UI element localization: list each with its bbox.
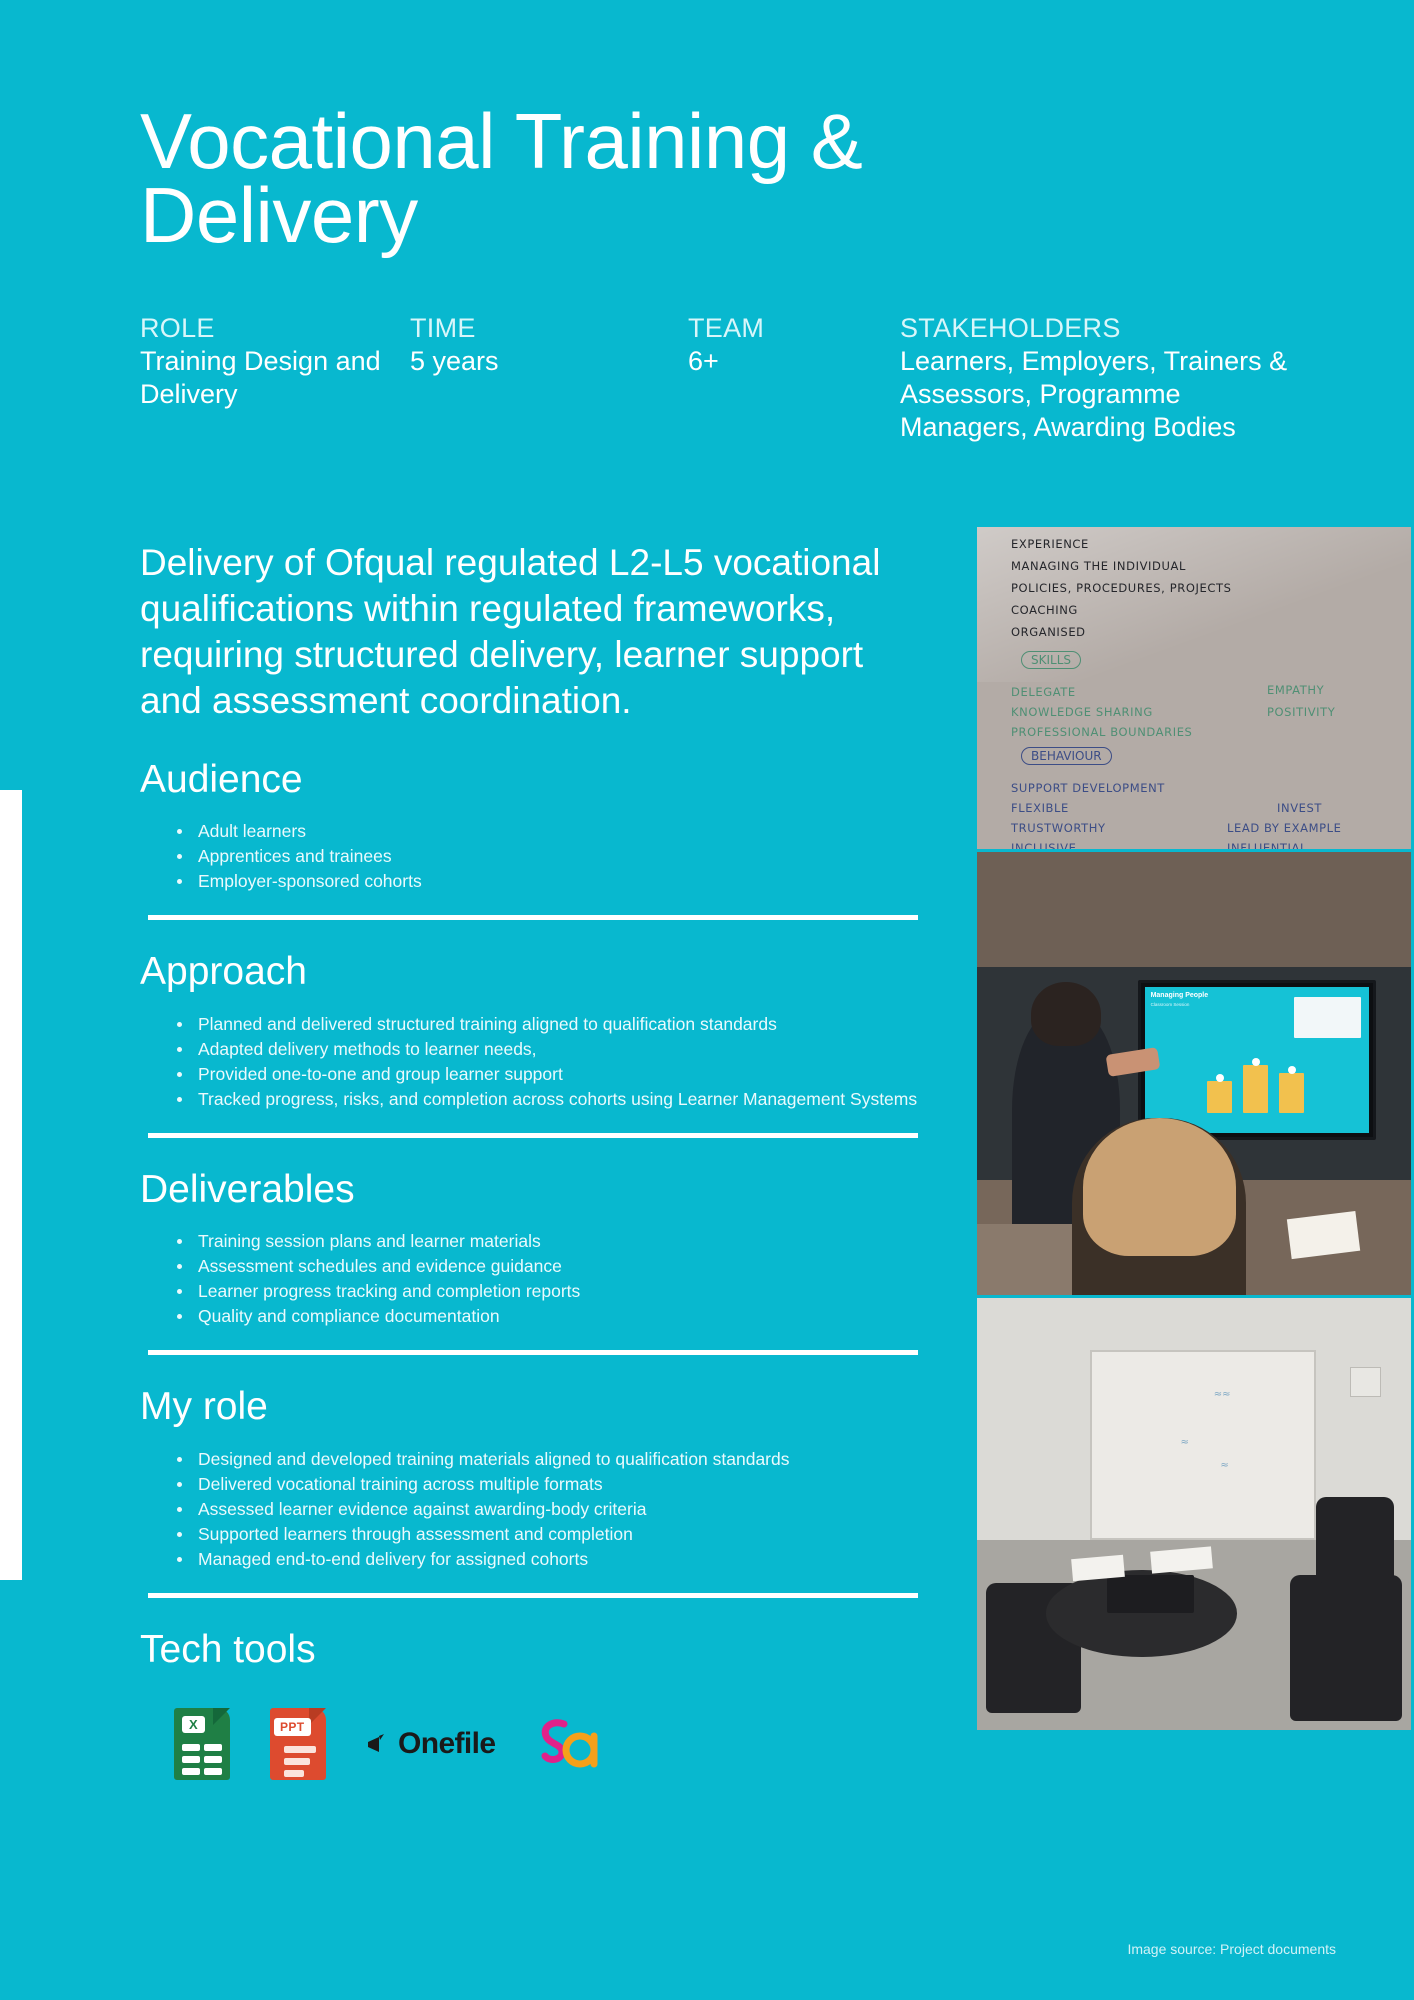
whiteboard-note: SUPPORT DEVELOPMENT	[1011, 781, 1165, 795]
list-item: Tracked progress, risks, and completion …	[174, 1088, 950, 1111]
meta-value-stakeholders: Learners, Employers, Trainers & Assessor…	[900, 345, 1302, 444]
whiteboard-scribble: ≈	[1220, 1460, 1228, 1471]
deliverables-list: Training session plans and learner mater…	[174, 1230, 950, 1328]
slide-card	[1294, 997, 1361, 1038]
training-room-photo: ≈≈ ≈ ≈	[977, 1298, 1411, 1730]
onefile-logo: Onefile	[366, 1727, 496, 1761]
slide-figure	[1279, 1073, 1304, 1112]
section-my-role: My role Designed and developed training …	[140, 1385, 950, 1570]
list-item: Planned and delivered structured trainin…	[174, 1013, 950, 1036]
whiteboard-note: FLEXIBLE	[1011, 801, 1069, 815]
whiteboard-note: EMPATHY	[1267, 683, 1324, 697]
excel-cell	[182, 1744, 200, 1751]
whiteboard-heading-behaviour: BEHAVIOUR	[1021, 747, 1112, 765]
list-item: Designed and developed training material…	[174, 1448, 950, 1471]
list-item: Provided one-to-one and group learner su…	[174, 1063, 950, 1086]
meta-value-time: 5 years	[410, 345, 670, 378]
onefile-mark-icon	[366, 1731, 392, 1757]
image-source-caption: Image source: Project documents	[1127, 1941, 1336, 1957]
list-item: Assessment schedules and evidence guidan…	[174, 1255, 950, 1278]
excel-cell	[182, 1768, 200, 1775]
whiteboard-note: TRUSTWORTHY	[1011, 821, 1106, 835]
whiteboard-note: COACHING	[1011, 603, 1078, 617]
meta-value-team: 6+	[688, 345, 882, 378]
whiteboard-heading-skills: SKILLS	[1021, 651, 1081, 669]
room-whiteboard: ≈≈ ≈ ≈	[1090, 1350, 1316, 1540]
powerpoint-logo: PPT	[270, 1708, 326, 1780]
list-item: Quality and compliance documentation	[174, 1305, 950, 1328]
classroom-session-photo: Managing People Classroom Session	[977, 852, 1411, 1295]
excel-cell	[204, 1756, 222, 1763]
whiteboard-note: ORGANISED	[1011, 625, 1086, 639]
section-divider	[148, 1350, 918, 1355]
section-divider	[148, 915, 918, 920]
whiteboard-note: INVEST	[1277, 801, 1322, 815]
meta-item-time: TIME 5 years	[410, 312, 688, 444]
wall-upper	[977, 852, 1411, 967]
office-chair	[1316, 1497, 1394, 1583]
onefile-logo-label: Onefile	[398, 1727, 496, 1761]
page-fold-icon	[309, 1708, 326, 1725]
section-title-my-role: My role	[140, 1385, 950, 1430]
list-item: Learner progress tracking and completion…	[174, 1280, 950, 1303]
whiteboard-photo: EXPERIENCE MANAGING THE INDIVIDUAL POLIC…	[977, 527, 1411, 849]
smart-assessor-mark-icon	[536, 1718, 598, 1770]
office-chair	[1290, 1575, 1403, 1722]
approach-list: Planned and delivered structured trainin…	[174, 1013, 950, 1111]
whiteboard-note: INCLUSIVE	[1011, 841, 1077, 849]
left-edge-notch	[0, 790, 22, 1580]
trainer-hair	[1031, 982, 1100, 1047]
whiteboard-scribble: ≈	[1180, 1437, 1188, 1448]
content-column: Delivery of Ofqual regulated L2-L5 vocat…	[140, 540, 950, 1786]
ppt-line	[284, 1770, 304, 1777]
meta-label-team: TEAM	[688, 312, 882, 345]
excel-logo-label: X	[182, 1716, 205, 1733]
whiteboard-scribble: ≈≈	[1214, 1389, 1231, 1400]
section-title-deliverables: Deliverables	[140, 1168, 950, 1213]
meta-label-stakeholders: STAKEHOLDERS	[900, 312, 1302, 345]
presentation-screen: Managing People Classroom Session	[1138, 980, 1377, 1139]
whiteboard-note: DELEGATE	[1011, 685, 1076, 699]
page-fold-icon	[213, 1708, 230, 1725]
meta-item-role: ROLE Training Design and Delivery	[140, 312, 410, 444]
page-title: Vocational Training & Delivery	[140, 104, 1150, 252]
list-item: Apprentices and trainees	[174, 845, 950, 868]
meta-label-time: TIME	[410, 312, 670, 345]
training-room-scene: ≈≈ ≈ ≈	[977, 1298, 1411, 1730]
powerpoint-logo-label: PPT	[274, 1718, 311, 1736]
paper-sheet	[1150, 1546, 1212, 1573]
photo-column: EXPERIENCE MANAGING THE INDIVIDUAL POLIC…	[977, 527, 1411, 1730]
section-divider	[148, 1593, 918, 1598]
excel-cell	[182, 1756, 200, 1763]
whiteboard-note: MANAGING THE INDIVIDUAL	[1011, 559, 1186, 573]
slide-heading: Managing People	[1151, 992, 1209, 999]
classroom-scene: Managing People Classroom Session	[977, 852, 1411, 1295]
list-item: Delivered vocational training across mul…	[174, 1473, 950, 1496]
tech-tools-logo-row: X PPT	[174, 1706, 950, 1782]
poster-header: Vocational Training & Delivery	[140, 104, 1300, 252]
section-title-tech-tools: Tech tools	[140, 1628, 950, 1673]
list-item: Employer-sponsored cohorts	[174, 870, 950, 893]
screen-content: Managing People Classroom Session	[1145, 987, 1370, 1132]
audience-list: Adult learners Apprentices and trainees …	[174, 820, 950, 893]
list-item: Supported learners through assessment an…	[174, 1523, 950, 1546]
meta-row: ROLE Training Design and Delivery TIME 5…	[140, 312, 1320, 444]
meta-item-stakeholders: STAKEHOLDERS Learners, Employers, Traine…	[900, 312, 1320, 444]
laptop	[1107, 1575, 1194, 1614]
attendee-hair	[1083, 1118, 1236, 1256]
list-item: Assessed learner evidence against awardi…	[174, 1498, 950, 1521]
ppt-line	[284, 1758, 310, 1765]
whiteboard-note: INFLUENTIAL	[1227, 841, 1307, 849]
section-divider	[148, 1133, 918, 1138]
excel-cell	[204, 1768, 222, 1775]
meta-item-team: TEAM 6+	[688, 312, 900, 444]
poster-page: Vocational Training & Delivery ROLE Trai…	[0, 0, 1414, 2000]
list-item: Managed end-to-end delivery for assigned…	[174, 1548, 950, 1571]
excel-logo: X	[174, 1708, 230, 1780]
list-item: Adult learners	[174, 820, 950, 843]
section-title-audience: Audience	[140, 758, 950, 803]
whiteboard-note: PROFESSIONAL BOUNDARIES	[1011, 725, 1192, 739]
summary-paragraph: Delivery of Ofqual regulated L2-L5 vocat…	[140, 540, 930, 724]
section-approach: Approach Planned and delivered structure…	[140, 950, 950, 1111]
attendee-figure	[1072, 1118, 1246, 1295]
meta-value-role: Training Design and Delivery	[140, 345, 392, 411]
whiteboard-note: EXPERIENCE	[1011, 537, 1089, 551]
section-deliverables: Deliverables Training session plans and …	[140, 1168, 950, 1329]
list-item: Adapted delivery methods to learner need…	[174, 1038, 950, 1061]
list-item: Training session plans and learner mater…	[174, 1230, 950, 1253]
wall-socket	[1350, 1367, 1380, 1397]
section-audience: Audience Adult learners Apprentices and …	[140, 758, 950, 894]
whiteboard-note: KNOWLEDGE SHARING	[1011, 705, 1153, 719]
my-role-list: Designed and developed training material…	[174, 1448, 950, 1571]
smart-assessor-logo	[536, 1718, 598, 1770]
whiteboard-note: POLICIES, PROCEDURES, PROJECTS	[1011, 581, 1232, 595]
section-title-approach: Approach	[140, 950, 950, 995]
section-tech-tools: Tech tools X PPT	[140, 1628, 950, 1783]
meta-label-role: ROLE	[140, 312, 392, 345]
excel-cell	[204, 1744, 222, 1751]
ppt-line	[284, 1746, 316, 1753]
whiteboard-surface: EXPERIENCE MANAGING THE INDIVIDUAL POLIC…	[977, 527, 1411, 849]
whiteboard-note: POSITIVITY	[1267, 705, 1335, 719]
slide-subheading: Classroom Session	[1151, 1002, 1190, 1007]
slide-figure	[1243, 1065, 1268, 1113]
whiteboard-note: LEAD BY EXAMPLE	[1227, 821, 1342, 835]
slide-figure	[1207, 1081, 1232, 1113]
